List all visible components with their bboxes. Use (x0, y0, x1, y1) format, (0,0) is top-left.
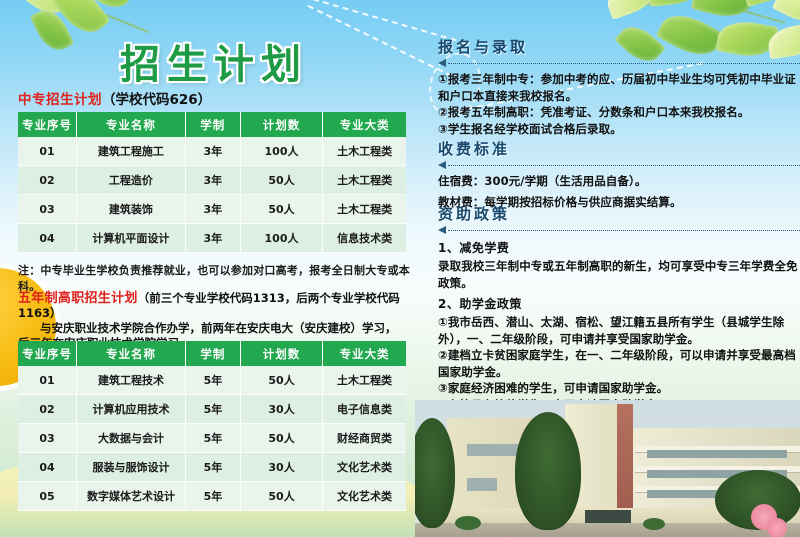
cell-name: 建筑工程技术 (77, 366, 186, 395)
cell-count: 50人 (241, 424, 323, 453)
cell-count: 100人 (241, 224, 323, 253)
left-column: 招生计划 中专招生计划（学校代码626） 专业序号 专业名称 学制 计划数 专业… (0, 0, 418, 537)
table-row: 02 计算机应用技术 5年 30人 电子信息类 (18, 395, 406, 424)
section2-desc-line1: 与安庆职业技术学院合作办学，前两年在安庆电大（安庆建校）学习， (18, 321, 418, 336)
cell-name: 计算机应用技术 (77, 395, 186, 424)
zizhu-sub-2: 2、助学金政策 (438, 295, 800, 312)
th-duration: 学制 (186, 112, 241, 137)
section2-title-red: 五年制高职招生计划 (18, 291, 138, 306)
cell-no: 02 (18, 166, 77, 195)
cell-category: 电子信息类 (323, 395, 406, 424)
cell-name: 建筑工程施工 (77, 137, 186, 166)
cell-count: 50人 (241, 482, 323, 511)
section-heading-zhongzhuan: 中专招生计划（学校代码626） (18, 88, 211, 108)
cell-name: 服装与服饰设计 (77, 453, 186, 482)
cell-no: 04 (18, 453, 77, 482)
section1-title-red: 中专招生计划 (18, 92, 102, 108)
th-major-name: 专业名称 (77, 112, 186, 137)
cell-category: 土木工程类 (323, 137, 406, 166)
table-header-row: 专业序号 专业名称 学制 计划数 专业大类 (18, 341, 406, 366)
cell-count: 100人 (241, 137, 323, 166)
baoming-item-1: ①报考三年制中专：参加中考的应、历届初中毕业生均可凭初中毕业证和户口本直接来我校… (438, 71, 800, 104)
cell-duration: 5年 (186, 395, 241, 424)
th-major-category: 专业大类 (323, 112, 406, 137)
zhongzhuan-note: 注：中专毕业生学校负责推荐就业，也可以参加对口高考，报考全日制大专或本科。 (18, 262, 410, 294)
th-major-no: 专业序号 (18, 112, 77, 137)
cell-duration: 5年 (186, 453, 241, 482)
cell-category: 土木工程类 (323, 195, 406, 224)
section2-title-line: 五年制高职招生计划（前三个专业学校代码1313，后两个专业学校代码1163） (18, 291, 418, 321)
heading-zizhu-zhengce: 资助政策 (438, 203, 800, 224)
cell-name: 数字媒体艺术设计 (77, 482, 186, 511)
cell-duration: 3年 (186, 224, 241, 253)
school-building-photo (415, 400, 800, 537)
cell-category: 土木工程类 (323, 166, 406, 195)
photo-red-stripe (617, 404, 633, 524)
brochure-page: 招生计划 中专招生计划（学校代码626） 专业序号 专业名称 学制 计划数 专业… (0, 0, 800, 537)
cell-count: 50人 (241, 166, 323, 195)
heading-baoming-luqu: 报名与录取 (438, 36, 800, 57)
cell-no: 03 (18, 195, 77, 224)
zizhu-item-3: ③家庭经济困难的学生，可申请国家助学金。 (438, 380, 800, 397)
cell-duration: 5年 (186, 424, 241, 453)
zizhu-sub-1: 1、减免学费 (438, 239, 800, 256)
heading-shoufei-biaozhun: 收费标准 (438, 138, 800, 159)
section1-title-black: （学校代码626） (102, 92, 211, 108)
zizhu-item-1: ①我市岳西、潜山、太湖、宿松、望江籍五县所有学生（县城学生除外），一、二年级阶段… (438, 314, 800, 347)
cell-duration: 3年 (186, 166, 241, 195)
cell-category: 土木工程类 (323, 366, 406, 395)
right-column: 报名与录取 ①报考三年制中专：参加中考的应、历届初中毕业生均可凭初中毕业证和户口… (432, 0, 800, 537)
table-row: 03 建筑装饰 3年 50人 土木工程类 (18, 195, 406, 224)
cell-duration: 5年 (186, 366, 241, 395)
divider-rule (438, 226, 800, 235)
cell-duration: 3年 (186, 137, 241, 166)
cell-duration: 3年 (186, 195, 241, 224)
zizhu-sub-1-text: 录取我校三年制中专或五年制高职的新生，均可享受中专三年学费全免政策。 (438, 258, 800, 291)
table-row: 03 大数据与会计 5年 50人 财经商贸类 (18, 424, 406, 453)
cell-category: 信息技术类 (323, 224, 406, 253)
shoufei-item-1: 住宿费：300元/学期（生活用品自备）。 (438, 173, 800, 190)
th-major-name: 专业名称 (77, 341, 186, 366)
cell-name: 大数据与会计 (77, 424, 186, 453)
th-plan-count: 计划数 (241, 341, 323, 366)
cell-no: 05 (18, 482, 77, 511)
cell-no: 04 (18, 224, 77, 253)
photo-tree (515, 412, 581, 530)
wunianzhi-plan-table: 专业序号 专业名称 学制 计划数 专业大类 01 建筑工程技术 5年 50人 土… (18, 341, 406, 511)
photo-window (467, 478, 497, 491)
cell-count: 50人 (241, 195, 323, 224)
photo-bush (455, 516, 481, 530)
divider-rule (438, 161, 800, 170)
cell-count: 50人 (241, 366, 323, 395)
th-major-no: 专业序号 (18, 341, 77, 366)
cell-no: 02 (18, 395, 77, 424)
cell-count: 30人 (241, 453, 323, 482)
cell-no: 01 (18, 137, 77, 166)
table-row: 04 计算机平面设计 3年 100人 信息技术类 (18, 224, 406, 253)
zizhu-item-2: ②建档立卡贫困家庭学生，在一、二年级阶段，可以申请并享受最高档国家助学金。 (438, 347, 800, 380)
cell-name: 工程造价 (77, 166, 186, 195)
cell-category: 财经商贸类 (323, 424, 406, 453)
th-major-category: 专业大类 (323, 341, 406, 366)
cell-name: 计算机平面设计 (77, 224, 186, 253)
baoming-item-2: ②报考五年制高职：凭准考证、分数条和户口本来我校报名。 (438, 104, 800, 121)
cell-category: 文化艺术类 (323, 482, 406, 511)
photo-flower (767, 518, 787, 537)
photo-window (647, 450, 787, 458)
table-row: 01 建筑工程技术 5年 50人 土木工程类 (18, 366, 406, 395)
table-row: 05 数字媒体艺术设计 5年 50人 文化艺术类 (18, 482, 406, 511)
divider-rule (438, 59, 800, 68)
baoming-item-3: ③学生报名经学校面试合格后录取。 (438, 121, 800, 138)
cell-no: 03 (18, 424, 77, 453)
cell-category: 文化艺术类 (323, 453, 406, 482)
cell-duration: 5年 (186, 482, 241, 511)
page-title: 招生计划 (120, 32, 308, 90)
cell-count: 30人 (241, 395, 323, 424)
cell-no: 01 (18, 366, 77, 395)
table-header-row: 专业序号 专业名称 学制 计划数 专业大类 (18, 112, 406, 137)
table-row: 04 服装与服饰设计 5年 30人 文化艺术类 (18, 453, 406, 482)
zhongzhuan-plan-table: 专业序号 专业名称 学制 计划数 专业大类 01 建筑工程施工 3年 100人 … (18, 112, 406, 253)
table-row: 02 工程造价 3年 50人 土木工程类 (18, 166, 406, 195)
th-plan-count: 计划数 (241, 112, 323, 137)
th-duration: 学制 (186, 341, 241, 366)
photo-bush (643, 518, 665, 530)
cell-name: 建筑装饰 (77, 195, 186, 224)
table-row: 01 建筑工程施工 3年 100人 土木工程类 (18, 137, 406, 166)
